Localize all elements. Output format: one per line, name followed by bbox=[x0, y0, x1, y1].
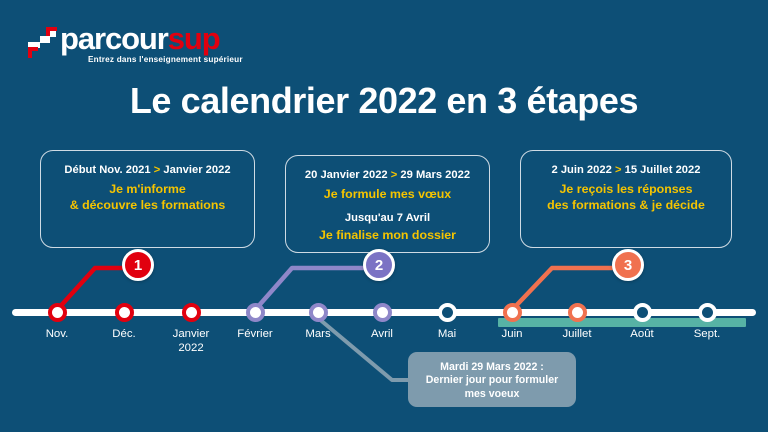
step-1-headline: Je m'informe & découvre les formations bbox=[41, 182, 254, 213]
step-card-1[interactable]: Début Nov. 2021 > Janvier 2022 Je m'info… bbox=[40, 150, 255, 248]
month-name: Février bbox=[237, 328, 272, 340]
month-name: Avril bbox=[371, 328, 393, 340]
step-2-headline-line1: Je formule mes vœux bbox=[286, 187, 489, 203]
month-name: Nov. bbox=[46, 328, 69, 340]
timeline-dot-juillet[interactable] bbox=[568, 303, 587, 322]
step-3-date-end: 15 Juillet 2022 bbox=[625, 164, 701, 176]
tooltip-line-3: mes voeux bbox=[408, 388, 576, 402]
step-2-sub-range: Jusqu'au 7 Avril bbox=[286, 210, 489, 226]
timeline-dot-sept[interactable] bbox=[698, 303, 717, 322]
month-name: Mars bbox=[305, 328, 330, 340]
timeline-dot-février[interactable] bbox=[246, 303, 265, 322]
timeline-dot-janvier[interactable] bbox=[182, 303, 201, 322]
step-2-date-end: 29 Mars 2022 bbox=[400, 169, 470, 181]
step-2-date-start: 20 Janvier 2022 bbox=[305, 169, 388, 181]
step-badge-2[interactable]: 2 bbox=[363, 249, 395, 281]
month-name: Sept. bbox=[694, 328, 721, 340]
step-3-headline-line2: des formations & je décide bbox=[521, 198, 731, 214]
step-badge-3[interactable]: 3 bbox=[612, 249, 644, 281]
timeline-dot-déc[interactable] bbox=[115, 303, 134, 322]
month-year: 2022 bbox=[146, 341, 236, 355]
timeline-dot-août[interactable] bbox=[633, 303, 652, 322]
tooltip-line-1: Mardi 29 Mars 2022 : bbox=[408, 360, 576, 374]
step-3-headline: Je reçois les réponses des formations & … bbox=[521, 182, 731, 213]
timeline-dot-avril[interactable] bbox=[373, 303, 392, 322]
step-badge-1[interactable]: 1 bbox=[122, 249, 154, 281]
timeline-dot-mars[interactable] bbox=[309, 303, 328, 322]
step-1-date-start: Début Nov. 2021 bbox=[64, 164, 150, 176]
step-3-date-start: 2 Juin 2022 bbox=[552, 164, 612, 176]
timeline-dot-mai[interactable] bbox=[438, 303, 457, 322]
step-2-date-range: 20 Janvier 2022 > 29 Mars 2022 bbox=[286, 167, 489, 183]
step-1-headline-line2: & découvre les formations bbox=[41, 198, 254, 214]
step-1-date-end: Janvier 2022 bbox=[163, 164, 230, 176]
step-1-headline-line1: Je m'informe bbox=[41, 182, 254, 198]
step-2-date-arrow: > bbox=[391, 169, 398, 181]
step-2-headline-line2: Je finalise mon dossier bbox=[286, 228, 489, 244]
step-3-date-range: 2 Juin 2022 > 15 Juillet 2022 bbox=[521, 162, 731, 178]
month-name: Mai bbox=[438, 328, 456, 340]
timeline-label-sept: Sept. bbox=[662, 327, 752, 341]
timeline-dot-nov[interactable] bbox=[48, 303, 67, 322]
tooltip-line-2: Dernier jour pour formuler bbox=[408, 374, 576, 388]
deadline-tooltip[interactable]: Mardi 29 Mars 2022 : Dernier jour pour f… bbox=[408, 352, 576, 407]
month-name: Janvier bbox=[173, 328, 210, 340]
month-name: Déc. bbox=[112, 328, 135, 340]
step-3-date-arrow: > bbox=[615, 164, 622, 176]
step-card-3[interactable]: 2 Juin 2022 > 15 Juillet 2022 Je reçois … bbox=[520, 150, 732, 248]
connector-step-2 bbox=[255, 268, 368, 310]
month-name: Août bbox=[630, 328, 653, 340]
month-name: Juin bbox=[502, 328, 523, 340]
step-1-date-arrow: > bbox=[154, 164, 161, 176]
connector-step-3 bbox=[512, 268, 618, 310]
step-card-2[interactable]: 20 Janvier 2022 > 29 Mars 2022 Je formul… bbox=[285, 155, 490, 253]
month-name: Juillet bbox=[562, 328, 591, 340]
timeline-dot-juin[interactable] bbox=[503, 303, 522, 322]
step-3-headline-line1: Je reçois les réponses bbox=[521, 182, 731, 198]
connector-step-1 bbox=[57, 268, 128, 310]
step-1-date-range: Début Nov. 2021 > Janvier 2022 bbox=[41, 162, 254, 178]
calendar-infographic: parcoursup Entrez dans l'enseignement su… bbox=[0, 0, 768, 432]
